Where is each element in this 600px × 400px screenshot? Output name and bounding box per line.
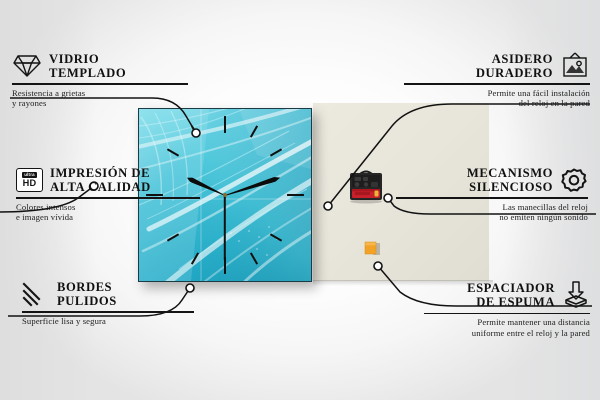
clock-center-pin xyxy=(223,193,227,197)
feature-description: Permite una fácil instalación del reloj … xyxy=(404,88,590,109)
divider xyxy=(12,83,188,84)
divider xyxy=(22,311,194,312)
gear-icon xyxy=(560,167,588,194)
diamond-icon xyxy=(12,53,42,79)
feature-description: Las manecillas del reloj no emiten ningú… xyxy=(396,202,588,223)
feature-asidero-duradero: ASIDERO DURADERO Permite una fácil insta… xyxy=(404,52,590,109)
infographic-canvas: VIDRIO TEMPLADO Resistencia a grietas y … xyxy=(0,0,600,400)
ultra-hd-badge-main-label: HD xyxy=(23,179,37,188)
feature-espaciador-de-espuma: ESPACIADOR DE ESPUMA Permite mantener un… xyxy=(424,280,590,338)
diagonal-lines-icon xyxy=(22,281,50,307)
feature-vidrio-templado: VIDRIO TEMPLADO Resistencia a grietas y … xyxy=(12,52,192,109)
feature-description: Superficie lisa y segura xyxy=(22,316,202,327)
feature-description: Permite mantener una distancia uniforme … xyxy=(424,317,590,338)
feature-title: VIDRIO TEMPLADO xyxy=(49,52,126,80)
feature-title: BORDES PULIDOS xyxy=(57,280,117,308)
divider xyxy=(16,197,200,198)
feature-impresion-alta-calidad: ultra HD IMPRESIÓN DE ALTA CALIDAD Color… xyxy=(16,166,206,223)
feature-title: IMPRESIÓN DE ALTA CALIDAD xyxy=(50,166,151,194)
feature-mecanismo-silencioso: MECANISMO SILENCIOSO Las manecillas del … xyxy=(396,166,588,223)
divider xyxy=(396,197,588,198)
divider xyxy=(424,313,590,314)
feature-title: MECANISMO SILENCIOSO xyxy=(467,166,553,194)
ultra-hd-badge-icon: ultra HD xyxy=(16,168,43,192)
feature-title: ASIDERO DURADERO xyxy=(476,52,553,80)
arrow-down-pad-icon xyxy=(562,280,590,310)
divider xyxy=(404,83,590,84)
feature-title: ESPACIADOR DE ESPUMA xyxy=(467,281,555,309)
feature-description: Resistencia a grietas y rayones xyxy=(12,88,192,109)
feature-description: Colores intensos e imagen vívida xyxy=(16,202,206,223)
feature-bordes-pulidos: BORDES PULIDOS Superficie lisa y segura xyxy=(22,280,202,326)
hanging-picture-frame-icon xyxy=(560,52,590,80)
